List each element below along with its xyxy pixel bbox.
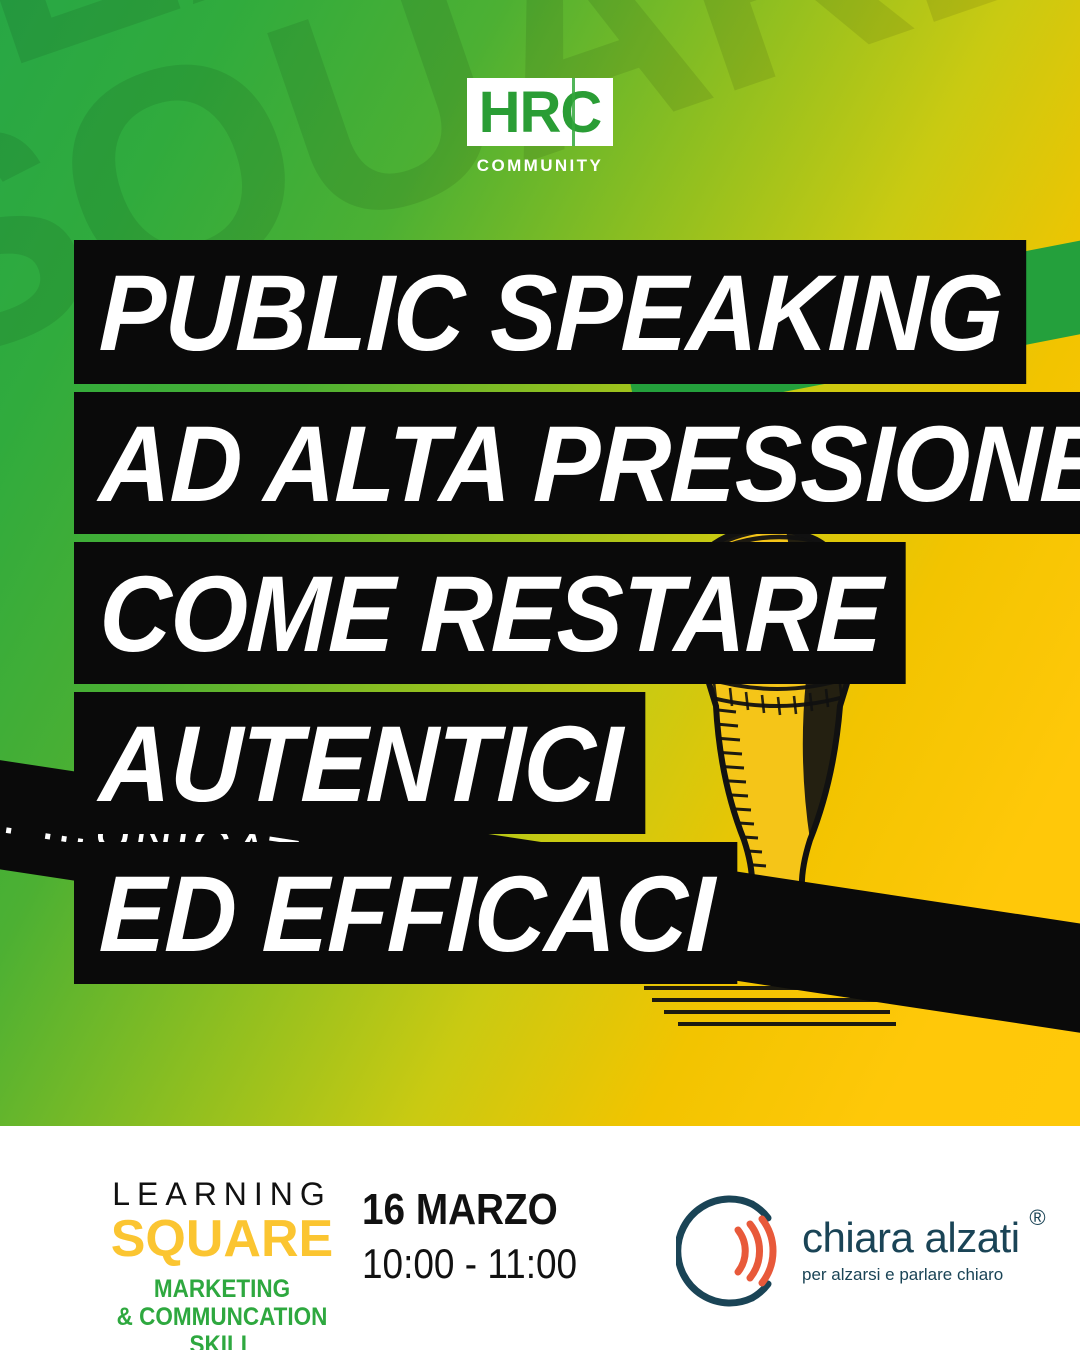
poster-title: PUBLIC SPEAKING AD ALTA PRESSIONE: COME … bbox=[0, 0, 1080, 1126]
title-line-1: PUBLIC SPEAKING bbox=[74, 240, 1026, 384]
learning-square-line-1: LEARNING bbox=[72, 1178, 372, 1210]
learning-square-subtitle-line-2: & COMMUNCATION SKILL bbox=[87, 1303, 357, 1350]
poster-canvas: LEARNING SQUARE bbox=[0, 0, 1080, 1350]
registered-trademark-icon: ® bbox=[1029, 1205, 1045, 1231]
title-line-1-text: PUBLIC SPEAKING bbox=[98, 250, 1005, 375]
artwork-background: LEARNING SQUARE bbox=[0, 0, 1080, 1126]
chiara-alzati-logo: chiara alzati ® per alzarsi e parlare ch… bbox=[676, 1192, 1020, 1310]
title-line-3: COME RESTARE bbox=[74, 542, 906, 684]
title-line-4-text: AUTENTICI bbox=[98, 701, 624, 826]
learning-square-subtitle-line-1: MARKETING bbox=[87, 1275, 357, 1303]
title-line-2-text: AD ALTA PRESSIONE: bbox=[98, 401, 1080, 526]
title-line-4: AUTENTICI bbox=[74, 692, 645, 834]
learning-square-subtitle: MARKETING & COMMUNCATION SKILL bbox=[87, 1275, 357, 1350]
event-time: 10:00 - 11:00 bbox=[362, 1240, 577, 1288]
title-line-5-text: ED EFFICACI bbox=[98, 851, 716, 976]
chiara-alzati-wordmark: chiara alzati ® per alzarsi e parlare ch… bbox=[802, 1217, 1020, 1285]
title-line-2: AD ALTA PRESSIONE: bbox=[74, 392, 1080, 534]
learning-square-logo: LEARNING SQUARE MARKETING & COMMUNCATION… bbox=[72, 1178, 372, 1350]
chiara-alzati-name: chiara alzati bbox=[802, 1217, 1020, 1259]
chiara-alzati-mark-icon bbox=[676, 1192, 794, 1310]
title-line-5: ED EFFICACI bbox=[74, 842, 737, 984]
learning-square-line-2: SQUARE bbox=[72, 1212, 372, 1267]
title-line-3-text: COME RESTARE bbox=[98, 551, 884, 676]
event-datetime: 16 MARZO 10:00 - 11:00 bbox=[362, 1186, 606, 1289]
chiara-alzati-tagline: per alzarsi e parlare chiaro bbox=[802, 1265, 1020, 1285]
event-date: 16 MARZO bbox=[362, 1186, 577, 1234]
